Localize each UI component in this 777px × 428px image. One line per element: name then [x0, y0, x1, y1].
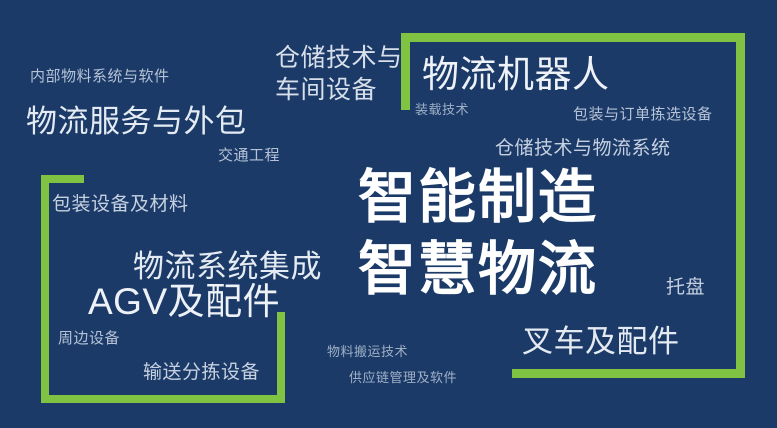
- keyword-peripheral-equipment: 周边设备: [58, 330, 120, 348]
- keyword-workshop-equipment-line2: 车间设备: [275, 76, 377, 106]
- keyword-forklift-and-accessories: 叉车及配件: [522, 324, 680, 361]
- keyword-pallet: 托盘: [666, 277, 705, 299]
- keyword-packaging-equipment-materials: 包装设备及材料: [52, 194, 189, 216]
- keyword-conveying-sorting-equipment: 输送分拣设备: [143, 362, 260, 384]
- keyword-logistics-robots: 物流机器人: [422, 53, 610, 97]
- headline-line-2: 智慧物流: [358, 240, 598, 301]
- headline-line-1: 智能制造: [358, 168, 598, 229]
- keyword-warehouse-tech-logistics-systems: 仓储技术与物流系统: [495, 138, 671, 160]
- keyword-logistics-service-outsourcing: 物流服务与外包: [26, 104, 247, 141]
- keyword-loading-technology: 装载技术: [415, 102, 469, 117]
- keyword-agv-and-accessories: AGV及配件: [88, 280, 280, 324]
- keyword-warehouse-tech-line1: 仓储技术与: [275, 44, 403, 74]
- keyword-material-handling-technology: 物料搬运技术: [327, 344, 408, 359]
- keyword-internal-material-systems-software: 内部物料系统与软件: [30, 68, 170, 86]
- keyword-packaging-order-picking-equipment: 包装与订单拣选设备: [573, 106, 713, 124]
- word-cloud-banner: 智能制造 智慧物流 内部物料系统与软件 仓储技术与 车间设备 物流机器人 物流服…: [0, 0, 777, 428]
- keyword-supply-chain-management-software: 供应链管理及软件: [349, 370, 457, 385]
- keyword-traffic-engineering: 交通工程: [218, 147, 280, 165]
